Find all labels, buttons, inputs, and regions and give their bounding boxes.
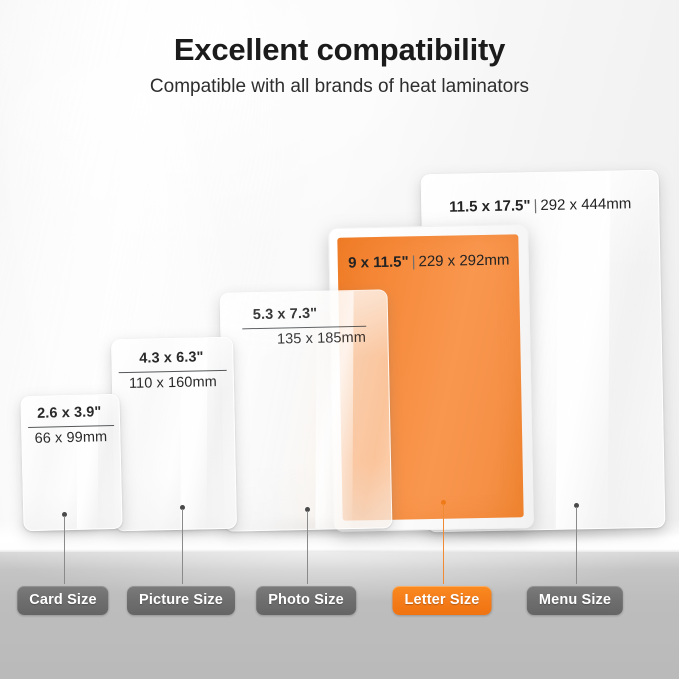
badge-photo-size[interactable]: Photo Size [256,586,356,615]
callout-line-photo [307,511,308,584]
callout-line-letter [443,504,444,584]
product-infographic: Excellent compatibility Compatible with … [0,0,679,679]
callout-line-menu [576,507,577,584]
pouch-letter-separator: | [408,253,418,270]
pouch-photo[interactable]: 5.3 x 7.3" 135 x 185mm [220,289,393,531]
pouch-letter-dimensions: 9 x 11.5"|229 x 292mm [329,250,529,274]
pouch-photo-inches: 5.3 x 7.3" [220,303,388,325]
pouch-card-inches: 2.6 x 3.9" [21,403,120,424]
pouch-letter-mm: 229 x 292mm [418,251,509,270]
badge-letter-size[interactable]: Letter Size [393,586,492,615]
pouch-menu-mm: 292 x 444mm [540,195,631,214]
pouch-picture-dimensions: 4.3 x 6.3" 110 x 160mm [111,348,234,394]
pouch-menu-inches: 11.5 x 17.5" [449,197,531,216]
page-title: Excellent compatibility [0,32,679,68]
pouch-photo-mm: 135 x 185mm [220,328,388,350]
pouch-card-mm: 66 x 99mm [21,427,120,448]
pouch-picture-mm: 110 x 160mm [112,372,234,393]
pouch-picture[interactable]: 4.3 x 6.3" 110 x 160mm [111,337,237,532]
callout-line-card [64,516,65,584]
pouch-card[interactable]: 2.6 x 3.9" 66 x 99mm [20,394,122,531]
badge-card-size[interactable]: Card Size [17,586,108,615]
badge-menu-size[interactable]: Menu Size [527,586,623,615]
pouch-photo-dimensions: 5.3 x 7.3" 135 x 185mm [220,303,389,350]
pouch-letter-inches: 9 x 11.5" [348,253,409,271]
pouch-card-dimensions: 2.6 x 3.9" 66 x 99mm [21,403,121,448]
page-subtitle: Compatible with all brands of heat lamin… [0,76,679,98]
heading-subtitle: Compatible with all brands of heat lamin… [0,76,679,98]
heading-title: Excellent compatibility [0,32,679,68]
pouch-menu-separator: | [530,197,540,214]
pouch-picture-inches: 4.3 x 6.3" [111,348,233,369]
callout-line-picture [182,509,183,584]
badge-picture-size[interactable]: Picture Size [127,586,235,615]
